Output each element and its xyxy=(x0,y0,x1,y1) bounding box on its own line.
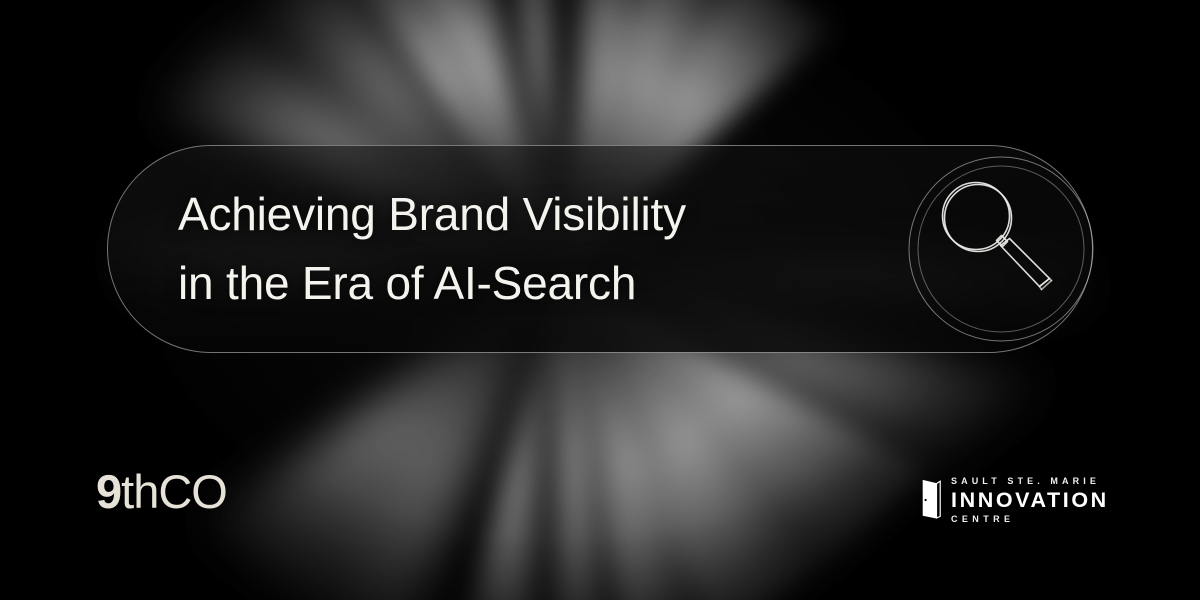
logo-innovation-centre: SAULT STE. MARIE INNOVATION CENTRE xyxy=(920,476,1109,525)
magnifying-glass-icon xyxy=(943,183,1052,290)
open-door-icon xyxy=(920,479,942,524)
badge-outer-ring xyxy=(909,157,1093,341)
poster-canvas: Achieving Brand Visibility in the Era of… xyxy=(0,0,1200,600)
logo-9thco-co: CO xyxy=(158,465,227,518)
logo-9thco-nine: 9 xyxy=(96,465,121,518)
logo-9thco: 9thCO xyxy=(96,468,227,515)
ssm-line-main: INNOVATION xyxy=(951,488,1109,512)
innovation-centre-wordmark: SAULT STE. MARIE INNOVATION CENTRE xyxy=(951,476,1109,525)
ssm-line-bottom: CENTRE xyxy=(951,513,1109,525)
page-title: Achieving Brand Visibility in the Era of… xyxy=(178,180,878,318)
search-badge xyxy=(908,154,1094,344)
logo-9thco-th: th xyxy=(121,465,158,518)
ssm-line-top: SAULT STE. MARIE xyxy=(951,476,1109,487)
